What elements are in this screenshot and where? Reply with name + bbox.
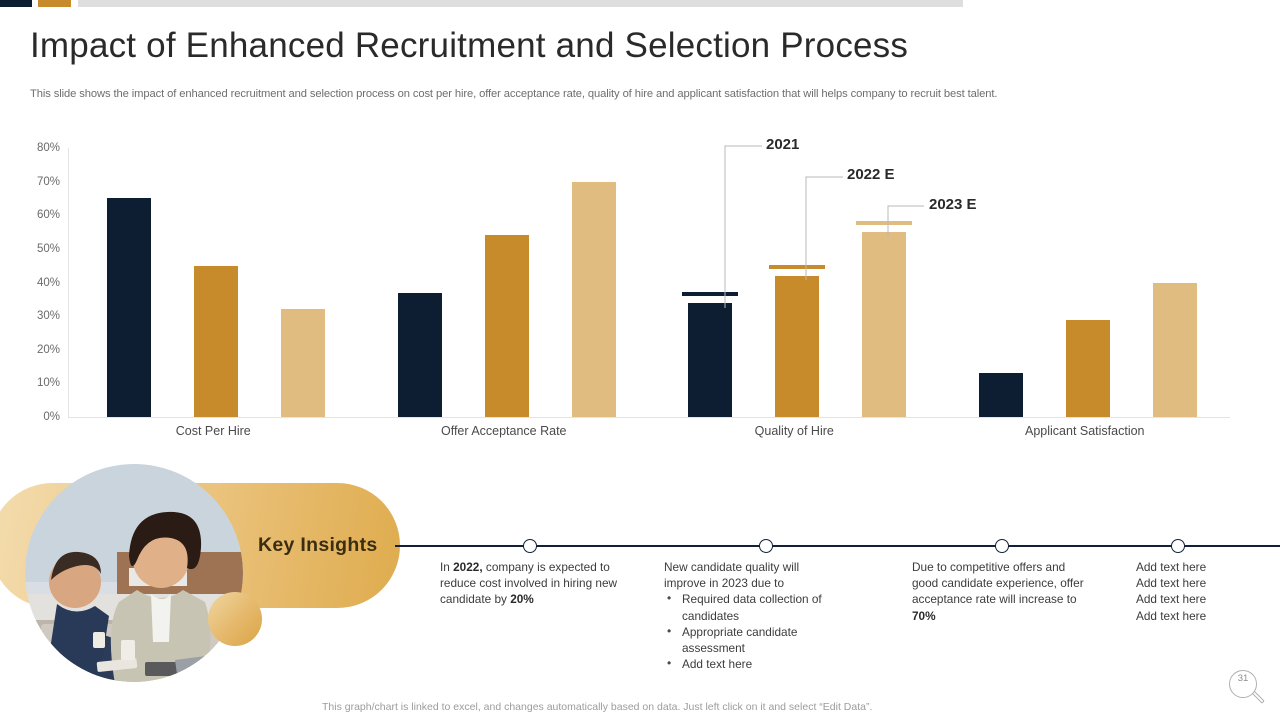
bar-offer-acceptance-rate-2022-e <box>485 235 529 417</box>
category-label: Applicant Satisfaction <box>1025 424 1145 438</box>
timeline-node-2 <box>759 539 773 553</box>
timeline-node-4 <box>1171 539 1185 553</box>
category-label: Offer Acceptance Rate <box>441 424 567 438</box>
insight-paragraph: Due to competitive offers and good candi… <box>912 559 1092 624</box>
y-axis-tick: 50% <box>0 243 60 255</box>
timeline-node-1 <box>523 539 537 553</box>
bar-cost-per-hire-2022-e <box>194 266 238 417</box>
y-axis-tick: 80% <box>0 142 60 154</box>
insight-paragraph: Add text hereAdd text hereAdd text hereA… <box>1136 559 1276 624</box>
insight-bullet-item: Appropriate candidate assessment <box>664 624 836 656</box>
y-axis-tick: 30% <box>0 310 60 322</box>
insight-bullet-item: Add text here <box>664 656 836 672</box>
y-axis: 0%10%20%30%40%50%60%70%80% <box>0 140 70 430</box>
bar-applicant-satisfaction-2023-e <box>1153 283 1197 418</box>
bar-applicant-satisfaction-2022-e <box>1066 320 1110 418</box>
page-title: Impact of Enhanced Recruitment and Selec… <box>30 26 908 66</box>
page-number: 31 <box>1230 673 1256 684</box>
y-axis-tick: 10% <box>0 377 60 389</box>
bar-quality-of-hire-2023-e <box>862 232 906 417</box>
accent-segment-grey <box>78 0 963 7</box>
footnote: This graph/chart is linked to excel, and… <box>322 701 872 713</box>
top-accent-bar <box>0 0 1280 7</box>
bar-cost-per-hire-2023-e <box>281 309 325 417</box>
category-label: Cost Per Hire <box>176 424 251 438</box>
y-axis-tick: 0% <box>0 411 60 423</box>
bar-cost-per-hire-2021 <box>107 198 151 417</box>
y-axis-tick: 20% <box>0 344 60 356</box>
insight-bullet-list: Required data collection of candidatesAp… <box>664 591 836 672</box>
insight-column-4: Add text hereAdd text hereAdd text hereA… <box>1136 559 1276 624</box>
callout-label-2022: 2022 E <box>847 166 895 183</box>
bar-applicant-satisfaction-2021 <box>979 373 1023 417</box>
insight-column-2: New candidate quality will improve in 20… <box>664 559 836 672</box>
insight-paragraph: New candidate quality will improve in 20… <box>664 559 836 591</box>
slide-root: Impact of Enhanced Recruitment and Selec… <box>0 0 1280 720</box>
page-number-badge: 31 <box>1218 660 1270 712</box>
insight-column-3: Due to competitive offers and good candi… <box>912 559 1092 624</box>
callout-label-2021: 2021 <box>766 136 799 153</box>
accent-segment-gold <box>38 0 71 7</box>
y-axis-tick: 60% <box>0 209 60 221</box>
decorative-circle <box>208 592 262 646</box>
insight-column-1: In 2022, company is expected to reduce c… <box>440 559 622 608</box>
plot-area <box>68 148 1230 417</box>
bar-offer-acceptance-rate-2023-e <box>572 182 616 417</box>
bar-chart: 0%10%20%30%40%50%60%70%80% Cost Per Hire… <box>0 140 1260 450</box>
bar-quality-of-hire-2021 <box>688 303 732 417</box>
callout-label-2023: 2023 E <box>929 196 977 213</box>
category-label: Quality of Hire <box>755 424 834 438</box>
page-subtitle: This slide shows the impact of enhanced … <box>30 88 997 100</box>
magnifier-icon <box>1218 660 1270 712</box>
bar-quality-of-hire-2022-e <box>775 276 819 417</box>
insight-bullet-item: Required data collection of candidates <box>664 591 836 623</box>
accent-segment-navy <box>0 0 32 7</box>
insight-paragraph: In 2022, company is expected to reduce c… <box>440 559 622 608</box>
bar-offer-acceptance-rate-2021 <box>398 293 442 417</box>
key-insights-label: Key Insights <box>258 534 378 557</box>
y-axis-tick: 40% <box>0 277 60 289</box>
timeline-node-3 <box>995 539 1009 553</box>
team-meeting-photo <box>25 464 243 682</box>
x-axis-line <box>68 417 1230 418</box>
y-axis-tick: 70% <box>0 176 60 188</box>
